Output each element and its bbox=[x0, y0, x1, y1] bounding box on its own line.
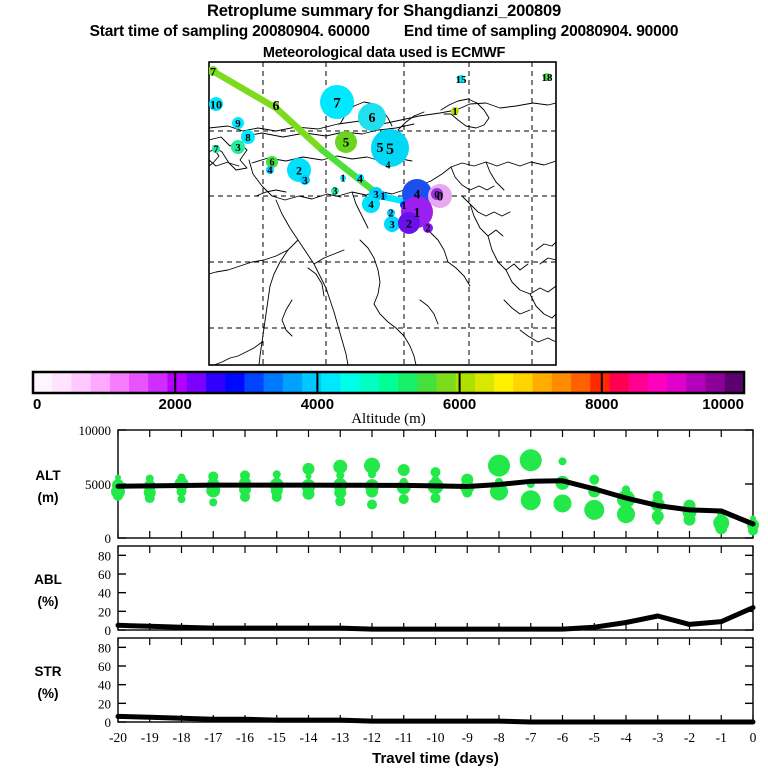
alt-scatter-point bbox=[398, 464, 410, 476]
map-bubble-label: 5 bbox=[343, 135, 350, 150]
y-tick-label-abl: 0 bbox=[105, 623, 112, 638]
map-bubble-label: 1 bbox=[381, 192, 386, 203]
colorbar-tick-label: 8000 bbox=[585, 396, 618, 413]
colorbar-band bbox=[571, 372, 591, 393]
colorbar-band bbox=[437, 372, 457, 393]
x-tick-label: 0 bbox=[750, 730, 757, 745]
y-tick-label-str: 20 bbox=[98, 696, 111, 711]
colorbar-band bbox=[513, 372, 533, 393]
colorbar-band bbox=[648, 372, 668, 393]
colorbar-band bbox=[379, 372, 399, 393]
x-tick-label: -19 bbox=[141, 730, 159, 745]
x-tick-label: -4 bbox=[620, 730, 631, 745]
colorbar-band bbox=[533, 372, 553, 393]
colorbar-band bbox=[321, 372, 341, 393]
colorbar-tick-label: 0 bbox=[33, 396, 41, 413]
colorbar-band bbox=[398, 372, 418, 393]
colorbar-band bbox=[609, 372, 629, 393]
panel-label-alt: ALT bbox=[35, 468, 61, 483]
x-tick-label: -3 bbox=[652, 730, 663, 745]
colorbar-band bbox=[264, 372, 284, 393]
y-tick-label-abl: 20 bbox=[98, 604, 111, 619]
alt-scatter-point bbox=[559, 457, 567, 465]
y-tick-label-str: 60 bbox=[98, 659, 111, 674]
y-tick-label-abl: 80 bbox=[98, 548, 111, 563]
figure-canvas: 7109837676555464231343142314001221518102… bbox=[0, 0, 768, 768]
map-bubble-label: 7 bbox=[210, 64, 216, 78]
colorbar-band bbox=[725, 372, 745, 393]
y-tick-label-abl: 60 bbox=[98, 567, 111, 582]
panel-label-str: STR bbox=[35, 664, 62, 679]
map-bubble-label: 7 bbox=[333, 95, 341, 111]
alt-scatter-point bbox=[335, 496, 345, 506]
x-tick-label: -10 bbox=[427, 730, 445, 745]
alt-scatter-point bbox=[240, 492, 250, 502]
alt-scatter-point bbox=[399, 494, 409, 504]
alt-scatter-point bbox=[521, 490, 541, 510]
colorbar-band bbox=[417, 372, 437, 393]
colorbar-band bbox=[340, 372, 360, 393]
colorbar-band bbox=[667, 372, 687, 393]
y-tick-label-str: 80 bbox=[98, 640, 111, 655]
map-bubble-label: 4 bbox=[368, 199, 374, 211]
panel-unit-abl: (%) bbox=[38, 594, 59, 609]
x-tick-label: -9 bbox=[462, 730, 473, 745]
colorbar-band bbox=[52, 372, 72, 393]
map-bubble-label: 1 bbox=[401, 200, 407, 212]
colorbar-band bbox=[187, 372, 207, 393]
map-bubble-label: 4 bbox=[386, 161, 391, 172]
x-tick-label: -6 bbox=[557, 730, 568, 745]
colorbar-band bbox=[629, 372, 649, 393]
alt-scatter-point bbox=[431, 467, 441, 477]
alt-scatter-point bbox=[177, 487, 187, 497]
colorbar-band bbox=[552, 372, 572, 393]
map-bubble-label: 7 bbox=[214, 145, 219, 156]
map-bubble-label: 3 bbox=[302, 175, 308, 187]
map-bubble-label: 4 bbox=[357, 171, 363, 185]
colorbar-band bbox=[91, 372, 111, 393]
colorbar-band bbox=[686, 372, 706, 393]
alt-scatter-point bbox=[178, 495, 186, 503]
panel-unit-str: (%) bbox=[38, 686, 59, 701]
map-bubble-label: 2 bbox=[389, 209, 394, 220]
alt-scatter-point bbox=[145, 493, 155, 503]
colorbar-band bbox=[71, 372, 91, 393]
colorbar-band bbox=[706, 372, 726, 393]
map-bubble-label: 1 bbox=[414, 206, 421, 221]
alt-scatter-point bbox=[684, 514, 696, 526]
alt-scatter-point bbox=[272, 492, 282, 502]
alt-scatter-point bbox=[617, 505, 635, 523]
map-bubble-label: 15 bbox=[456, 74, 468, 86]
x-tick-label: -13 bbox=[331, 730, 349, 745]
map-bubble-label: 6 bbox=[273, 99, 280, 114]
x-tick-label: -8 bbox=[493, 730, 504, 745]
map-bubble-label: 18 bbox=[542, 72, 554, 84]
x-tick-label: -2 bbox=[684, 730, 695, 745]
colorbar-band bbox=[206, 372, 226, 393]
alt-scatter-point bbox=[113, 491, 123, 501]
colorbar-band bbox=[148, 372, 168, 393]
map-bubble-label: 10 bbox=[210, 97, 222, 111]
alt-scatter-point bbox=[209, 498, 217, 506]
y-tick-label-str: 40 bbox=[98, 678, 111, 693]
colorbar-tick-label: 4000 bbox=[301, 396, 334, 413]
x-tick-label: -7 bbox=[525, 730, 536, 745]
alt-scatter-point bbox=[589, 475, 599, 485]
colorbar-band bbox=[475, 372, 495, 393]
colorbar-band bbox=[283, 372, 303, 393]
map-bubble-label: 3 bbox=[235, 142, 241, 154]
panel-unit-alt: (m) bbox=[38, 490, 59, 505]
colorbar-tick-label: 10000 bbox=[702, 396, 744, 413]
alt-scatter-point bbox=[520, 449, 542, 471]
alt-scatter-point bbox=[748, 525, 758, 535]
alt-scatter-point bbox=[584, 500, 604, 520]
colorbar-band bbox=[302, 372, 322, 393]
colorbar-band bbox=[494, 372, 514, 393]
x-tick-label: -14 bbox=[300, 730, 318, 745]
x-axis-title: Travel time (days) bbox=[372, 750, 499, 767]
y-tick-label-alt: 5000 bbox=[85, 477, 111, 492]
alt-scatter-point bbox=[303, 463, 315, 475]
y-tick-label-abl: 40 bbox=[98, 586, 111, 601]
alt-scatter-point bbox=[715, 522, 727, 534]
map-bubble-label: 2 bbox=[296, 163, 302, 177]
alt-scatter-point bbox=[368, 470, 376, 478]
retroplume-figure: Retroplume summary for Shangdianzi_20080… bbox=[0, 0, 768, 768]
alt-scatter-point bbox=[655, 519, 661, 525]
x-tick-label: -11 bbox=[395, 730, 413, 745]
colorbar-tick-label: 2000 bbox=[159, 396, 192, 413]
map-bubble-label: 2 bbox=[426, 224, 431, 235]
x-tick-label: -12 bbox=[363, 730, 381, 745]
panel-label-abl: ABL bbox=[34, 572, 62, 587]
colorbar-title: Altitude (m) bbox=[351, 411, 426, 427]
map-bubble-label: 3 bbox=[389, 219, 395, 231]
alt-scatter-point bbox=[462, 488, 472, 498]
map-bubble-label: 1 bbox=[452, 106, 458, 118]
alt-scatter-point bbox=[488, 455, 510, 477]
x-tick-label: -17 bbox=[204, 730, 222, 745]
colorbar-band bbox=[110, 372, 130, 393]
map-bubble-label: 5 bbox=[377, 141, 384, 156]
colorbar-band bbox=[129, 372, 149, 393]
x-tick-label: -16 bbox=[236, 730, 254, 745]
map-bubble-label: 0 bbox=[434, 189, 440, 201]
colorbar-tick-label: 6000 bbox=[443, 396, 476, 413]
colorbar-band bbox=[590, 372, 610, 393]
y-tick-label-str: 0 bbox=[105, 715, 112, 730]
map-bubble-label: 4 bbox=[414, 187, 421, 202]
colorbar-band bbox=[360, 372, 380, 393]
colorbar-band bbox=[33, 372, 53, 393]
map-bubble-label: 6 bbox=[369, 111, 376, 126]
x-tick-label: -20 bbox=[109, 730, 127, 745]
map-bubble-label: 3 bbox=[333, 187, 338, 198]
map-bubble-label: 4 bbox=[268, 166, 273, 177]
colorbar-band bbox=[225, 372, 245, 393]
map-bubble-label: 3 bbox=[373, 189, 379, 201]
x-tick-label: -5 bbox=[589, 730, 600, 745]
y-tick-label-alt: 10000 bbox=[79, 423, 112, 438]
x-tick-label: -18 bbox=[173, 730, 191, 745]
map-bubble-label: 9 bbox=[235, 118, 241, 130]
colorbar-band bbox=[244, 372, 264, 393]
alt-scatter-point bbox=[367, 500, 377, 510]
map-bubble-label: 8 bbox=[245, 132, 251, 144]
alt-scatter-point bbox=[554, 494, 572, 512]
x-tick-label: -1 bbox=[716, 730, 727, 745]
panel-frame-str bbox=[118, 638, 753, 722]
alt-scatter-point bbox=[431, 493, 441, 503]
x-tick-label: -15 bbox=[268, 730, 286, 745]
y-tick-label-alt: 0 bbox=[105, 531, 112, 546]
map-bubble-label: 1 bbox=[341, 174, 346, 185]
alt-scatter-point bbox=[303, 488, 315, 500]
map-bubble-label: 5 bbox=[386, 141, 394, 158]
map-bubble-label: 2 bbox=[406, 216, 412, 230]
colorbar-band bbox=[168, 372, 188, 393]
alt-scatter-point bbox=[306, 473, 312, 479]
